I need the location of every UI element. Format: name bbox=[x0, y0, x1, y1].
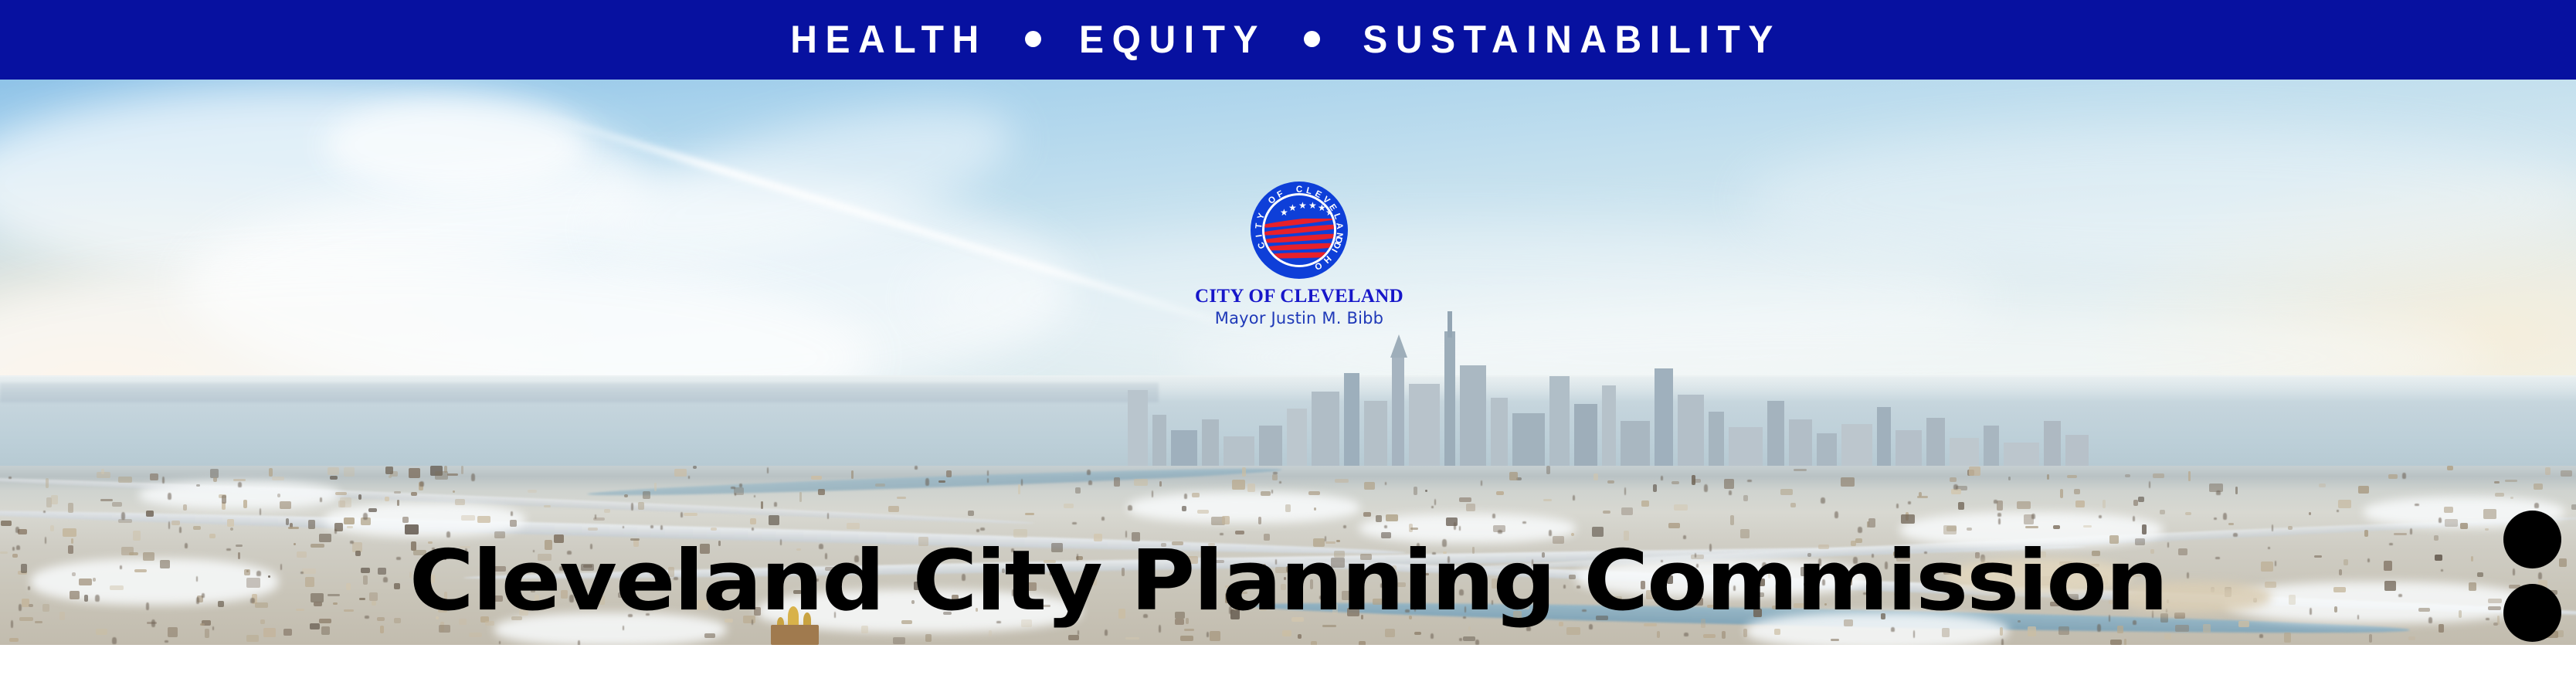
building-parcel bbox=[286, 518, 289, 525]
building-parcel bbox=[624, 494, 628, 497]
building-parcel bbox=[461, 466, 463, 474]
building-parcel bbox=[461, 515, 475, 521]
tree bbox=[2410, 528, 2412, 534]
skyline-building bbox=[1655, 368, 1673, 475]
tree bbox=[15, 527, 19, 533]
building-parcel bbox=[1641, 500, 1649, 507]
building-parcel bbox=[50, 525, 54, 531]
building-parcel bbox=[1919, 492, 1922, 497]
building-parcel bbox=[402, 517, 409, 523]
building-parcel bbox=[1192, 493, 1200, 497]
tree bbox=[767, 467, 769, 473]
tree bbox=[1105, 629, 1108, 636]
building-parcel bbox=[946, 470, 952, 477]
building-parcel bbox=[183, 504, 187, 511]
building-parcel bbox=[1114, 477, 1120, 487]
building-parcel bbox=[280, 501, 291, 509]
building-parcel bbox=[2110, 640, 2122, 645]
tree bbox=[623, 526, 624, 528]
tree bbox=[1747, 480, 1752, 482]
building-parcel bbox=[2188, 471, 2191, 481]
skyline-building bbox=[1128, 390, 1148, 475]
skyline-building bbox=[1491, 398, 1508, 475]
building-parcel bbox=[118, 519, 132, 523]
building-parcel bbox=[200, 623, 205, 626]
tree bbox=[2233, 533, 2238, 537]
building-parcel bbox=[638, 502, 644, 510]
tree bbox=[631, 503, 633, 511]
tree bbox=[363, 513, 368, 520]
building-parcel bbox=[409, 468, 420, 478]
building-parcel bbox=[1743, 495, 1748, 501]
tree bbox=[1087, 470, 1091, 475]
building-parcel bbox=[2203, 624, 2211, 633]
building-parcel bbox=[263, 628, 276, 637]
building-parcel bbox=[1272, 474, 1278, 480]
building-parcel bbox=[411, 492, 417, 496]
tree bbox=[1431, 633, 1434, 639]
building-parcel bbox=[1282, 630, 1291, 636]
snow-field bbox=[1128, 492, 1359, 523]
tree bbox=[1459, 638, 1462, 641]
building-parcel bbox=[643, 491, 650, 499]
seal-star-icon: ★ bbox=[1280, 208, 1288, 217]
building-parcel bbox=[1997, 500, 2003, 511]
building-parcel bbox=[1410, 528, 1418, 530]
tree bbox=[162, 477, 165, 484]
tree bbox=[2439, 517, 2442, 523]
skyline-building bbox=[1549, 376, 1570, 475]
building-parcel bbox=[63, 528, 76, 537]
tree bbox=[1128, 505, 1132, 511]
tree bbox=[752, 528, 754, 531]
tree bbox=[499, 641, 501, 644]
tree bbox=[1821, 497, 1825, 504]
building-parcel bbox=[101, 469, 104, 474]
tree bbox=[1454, 522, 1456, 530]
building-parcel bbox=[925, 634, 932, 642]
tree bbox=[1858, 527, 1862, 533]
building-parcel bbox=[321, 626, 330, 635]
building-parcel bbox=[799, 492, 802, 502]
skyline-building bbox=[1460, 365, 1486, 475]
building-parcel bbox=[283, 629, 292, 636]
tree bbox=[578, 640, 580, 645]
building-parcel bbox=[604, 509, 610, 513]
building-parcel bbox=[1794, 469, 1807, 471]
building-parcel bbox=[150, 473, 158, 480]
building-parcel bbox=[1, 521, 12, 526]
building-parcel bbox=[1308, 491, 1320, 495]
building-parcel bbox=[2025, 526, 2038, 528]
building-parcel bbox=[1363, 512, 1371, 517]
tree bbox=[1078, 630, 1079, 635]
building-parcel bbox=[1335, 479, 1349, 483]
skyline-building bbox=[1409, 384, 1440, 475]
building-parcel bbox=[938, 480, 945, 483]
building-parcel bbox=[1134, 479, 1148, 486]
building-parcel bbox=[2164, 633, 2171, 640]
building-parcel bbox=[1703, 634, 1716, 638]
tree bbox=[260, 508, 261, 515]
building-parcel bbox=[2309, 512, 2311, 515]
tree bbox=[1152, 490, 1153, 497]
tree bbox=[735, 493, 736, 496]
building-parcel bbox=[455, 499, 465, 505]
building-parcel bbox=[1247, 484, 1255, 492]
tree bbox=[731, 487, 735, 489]
building-parcel bbox=[335, 492, 347, 495]
building-parcel bbox=[2175, 625, 2189, 632]
building-parcel bbox=[1414, 632, 1421, 635]
building-parcel bbox=[269, 468, 273, 477]
tree bbox=[1101, 517, 1105, 521]
building-parcel bbox=[1182, 506, 1186, 511]
building-parcel bbox=[380, 626, 384, 633]
tree bbox=[1953, 484, 1958, 490]
building-parcel bbox=[2444, 507, 2453, 513]
building-parcel bbox=[875, 484, 885, 487]
building-parcel bbox=[2364, 530, 2368, 537]
building-parcel bbox=[1311, 641, 1317, 645]
tree bbox=[650, 525, 653, 528]
tree bbox=[1207, 632, 1209, 637]
tree bbox=[419, 481, 424, 487]
tagline-word-health: HEALTH bbox=[790, 20, 986, 59]
building-parcel bbox=[385, 467, 393, 474]
building-parcel bbox=[1285, 504, 1291, 512]
building-parcel bbox=[344, 517, 355, 524]
building-parcel bbox=[2125, 474, 2130, 477]
building-parcel bbox=[394, 491, 401, 494]
tree bbox=[179, 527, 182, 533]
building-parcel bbox=[168, 627, 178, 637]
building-parcel bbox=[769, 515, 779, 525]
building-parcel bbox=[100, 499, 113, 501]
tree bbox=[2337, 510, 2339, 512]
building-parcel bbox=[453, 490, 455, 493]
tagline-word-equity: EQUITY bbox=[1079, 20, 1266, 59]
building-parcel bbox=[1774, 629, 1780, 635]
building-parcel bbox=[2228, 523, 2234, 525]
building-parcel bbox=[1967, 528, 1972, 531]
building-parcel bbox=[2571, 504, 2576, 510]
tree bbox=[43, 511, 46, 513]
tree bbox=[168, 521, 170, 529]
building-parcel bbox=[1607, 480, 1614, 484]
tree bbox=[168, 493, 171, 500]
building-parcel bbox=[1376, 515, 1382, 522]
building-parcel bbox=[272, 477, 284, 480]
building-parcel bbox=[1197, 510, 1209, 514]
building-parcel bbox=[112, 502, 122, 507]
building-parcel bbox=[1364, 482, 1375, 490]
building-parcel bbox=[2369, 634, 2372, 643]
building-parcel bbox=[528, 490, 537, 493]
building-parcel bbox=[1425, 490, 1427, 492]
youtube-icon bbox=[2515, 522, 2551, 558]
building-parcel bbox=[2495, 493, 2504, 497]
building-parcel bbox=[968, 511, 974, 516]
building-parcel bbox=[171, 521, 180, 525]
building-parcel bbox=[1180, 636, 1193, 641]
tagline-banner: HEALTH EQUITY SUSTAINABILITY bbox=[0, 0, 2576, 80]
building-parcel bbox=[1314, 507, 1316, 511]
building-parcel bbox=[510, 520, 517, 527]
skyline-building bbox=[1602, 385, 1616, 475]
building-parcel bbox=[46, 478, 49, 488]
building-parcel bbox=[2047, 474, 2049, 480]
skyline-building bbox=[1767, 401, 1784, 475]
tree bbox=[2272, 524, 2273, 531]
building-parcel bbox=[2561, 470, 2572, 477]
building-parcel bbox=[2534, 484, 2543, 490]
tree bbox=[1684, 633, 1688, 636]
city-seal-icon: CITY OF CLEVELANDOHIO ★★★★★★ bbox=[1251, 182, 1348, 279]
tree bbox=[1273, 472, 1278, 474]
tree bbox=[112, 637, 117, 644]
building-parcel bbox=[2288, 526, 2293, 530]
tree bbox=[976, 529, 979, 532]
building-parcel bbox=[9, 638, 19, 642]
hero-photo-banner: CITY OF CLEVELANDOHIO ★★★★★★ CITY OF CLE… bbox=[0, 80, 2576, 645]
building-parcel bbox=[2483, 509, 2496, 519]
building-parcel bbox=[1359, 641, 1366, 645]
building-parcel bbox=[1075, 487, 1081, 494]
building-parcel bbox=[588, 528, 598, 531]
building-parcel bbox=[1414, 487, 1417, 495]
building-parcel bbox=[344, 467, 355, 477]
building-parcel bbox=[1466, 504, 1475, 511]
building-parcel bbox=[209, 534, 216, 538]
building-parcel bbox=[1780, 489, 1793, 495]
building-parcel bbox=[1546, 466, 1550, 474]
building-parcel bbox=[1724, 479, 1734, 489]
building-parcel bbox=[2017, 501, 2031, 509]
building-parcel bbox=[1463, 636, 1475, 641]
building-parcel bbox=[444, 466, 447, 473]
tree bbox=[1492, 514, 1495, 518]
building-parcel bbox=[818, 489, 825, 495]
tree bbox=[1481, 480, 1482, 486]
building-parcel bbox=[893, 637, 905, 644]
building-parcel bbox=[368, 508, 377, 512]
building-parcel bbox=[2545, 467, 2551, 475]
instagram-icon bbox=[2515, 595, 2551, 631]
building-parcel bbox=[674, 469, 687, 477]
tree bbox=[2001, 639, 2004, 645]
tree bbox=[987, 478, 989, 483]
building-parcel bbox=[68, 503, 73, 513]
tagline-word-sustainability: SUSTAINABILITY bbox=[1363, 20, 1781, 59]
building-parcel bbox=[2185, 512, 2191, 515]
tree bbox=[1385, 482, 1386, 485]
building-parcel bbox=[338, 500, 345, 507]
tree bbox=[774, 502, 777, 507]
building-parcel bbox=[897, 497, 906, 499]
building-parcel bbox=[2319, 484, 2326, 487]
building-parcel bbox=[711, 528, 717, 531]
tree bbox=[987, 470, 989, 476]
building-parcel bbox=[2439, 624, 2444, 633]
tree bbox=[320, 497, 322, 502]
seal-star-icon: ★ bbox=[1288, 203, 1297, 212]
tree bbox=[595, 514, 596, 519]
building-parcel bbox=[222, 495, 226, 504]
tree bbox=[2133, 516, 2135, 521]
skyline-building bbox=[1444, 331, 1455, 475]
tree bbox=[1913, 630, 1915, 638]
skyline-building bbox=[1574, 404, 1597, 475]
building-parcel bbox=[1692, 475, 1695, 485]
building-parcel bbox=[389, 475, 392, 478]
building-parcel bbox=[1385, 629, 1395, 637]
building-parcel bbox=[347, 526, 353, 528]
tree bbox=[827, 513, 829, 519]
building-parcel bbox=[2494, 481, 2500, 484]
tree bbox=[1475, 640, 1479, 645]
social-link-youtube[interactable] bbox=[2503, 511, 2561, 568]
building-parcel bbox=[233, 479, 246, 481]
skyline-building bbox=[1392, 353, 1404, 475]
building-parcel bbox=[1298, 634, 1302, 639]
building-parcel bbox=[1232, 480, 1245, 490]
skyline-building bbox=[1364, 401, 1387, 475]
building-parcel bbox=[1593, 473, 1598, 480]
building-parcel bbox=[1951, 489, 1961, 494]
building-parcel bbox=[851, 470, 854, 479]
building-parcel bbox=[1958, 502, 1964, 510]
building-parcel bbox=[2124, 639, 2126, 645]
building-parcel bbox=[1159, 481, 1162, 487]
tree bbox=[1522, 521, 1526, 524]
tree bbox=[1184, 494, 1187, 499]
building-parcel bbox=[2074, 489, 2080, 494]
tree bbox=[1896, 504, 1899, 508]
building-parcel bbox=[1868, 518, 1875, 528]
tree bbox=[1088, 480, 1092, 485]
tree bbox=[1271, 490, 1273, 494]
bullet-dot-icon bbox=[1025, 31, 1041, 47]
seal-star-icon: ★ bbox=[1298, 201, 1307, 210]
building-parcel bbox=[330, 476, 338, 480]
building-parcel bbox=[1603, 511, 1610, 514]
building-parcel bbox=[1543, 499, 1552, 501]
building-parcel bbox=[888, 506, 899, 512]
building-parcel bbox=[989, 630, 992, 636]
building-parcel bbox=[328, 467, 339, 475]
tree bbox=[212, 626, 214, 630]
building-parcel bbox=[1674, 504, 1688, 511]
building-parcel bbox=[51, 495, 58, 504]
building-parcel bbox=[2394, 533, 2407, 535]
building-parcel bbox=[1969, 467, 1980, 476]
building-parcel bbox=[1672, 481, 1679, 484]
building-parcel bbox=[205, 629, 209, 638]
tree bbox=[1279, 481, 1281, 484]
building-parcel bbox=[1261, 491, 1271, 496]
tree bbox=[660, 525, 663, 530]
city-logo-title: CITY OF CLEVELAND bbox=[1195, 287, 1403, 307]
building-parcel bbox=[2338, 500, 2351, 508]
tree bbox=[334, 529, 337, 534]
building-parcel bbox=[847, 523, 860, 529]
tree bbox=[1908, 501, 1911, 504]
building-parcel bbox=[1722, 631, 1726, 639]
building-parcel bbox=[1068, 635, 1079, 640]
building-parcel bbox=[230, 528, 233, 531]
building-parcel bbox=[1459, 497, 1471, 502]
building-parcel bbox=[308, 520, 315, 529]
building-parcel bbox=[1730, 515, 1734, 525]
building-parcel bbox=[469, 633, 482, 637]
flag-stripe bbox=[1264, 252, 1336, 260]
skyline-building bbox=[1877, 407, 1891, 475]
building-parcel bbox=[654, 483, 657, 491]
building-parcel bbox=[1653, 484, 1657, 492]
tree bbox=[8, 477, 12, 479]
building-parcel bbox=[1668, 523, 1680, 528]
tree bbox=[925, 478, 929, 486]
building-parcel bbox=[397, 500, 399, 506]
footer-whitespace bbox=[0, 645, 2576, 682]
building-parcel bbox=[477, 516, 490, 523]
social-link-instagram[interactable] bbox=[2503, 584, 2561, 642]
building-parcel bbox=[2160, 510, 2165, 514]
building-parcel bbox=[1496, 491, 1504, 495]
tree bbox=[1384, 525, 1387, 528]
building-parcel bbox=[1258, 517, 1261, 524]
building-parcel bbox=[1841, 477, 1855, 487]
building-parcel bbox=[1901, 514, 1915, 524]
tree bbox=[2216, 490, 2221, 495]
building-parcel bbox=[196, 484, 200, 487]
seal-star-icon: ★ bbox=[1308, 201, 1317, 210]
tree bbox=[688, 476, 690, 479]
building-parcel bbox=[1509, 472, 1518, 480]
building-parcel bbox=[2053, 525, 2060, 529]
tree bbox=[739, 484, 742, 487]
building-parcel bbox=[761, 501, 763, 509]
building-parcel bbox=[1386, 514, 1398, 521]
building-parcel bbox=[2083, 525, 2092, 528]
social-links bbox=[2503, 511, 2562, 645]
tree bbox=[1704, 484, 1708, 492]
tree bbox=[165, 640, 168, 643]
tree bbox=[915, 466, 918, 470]
building-parcel bbox=[277, 494, 280, 497]
building-parcel bbox=[2510, 497, 2513, 499]
building-parcel bbox=[2284, 633, 2291, 643]
tree bbox=[471, 473, 475, 481]
building-parcel bbox=[243, 500, 247, 508]
tree bbox=[1021, 479, 1023, 486]
flag-stripe bbox=[1264, 242, 1336, 251]
building-parcel bbox=[2067, 475, 2077, 478]
building-parcel bbox=[2408, 636, 2415, 640]
building-parcel bbox=[2153, 473, 2164, 478]
building-parcel bbox=[2358, 486, 2369, 494]
building-parcel bbox=[1657, 631, 1660, 638]
building-parcel bbox=[96, 629, 107, 635]
building-parcel bbox=[811, 476, 822, 480]
tree bbox=[980, 528, 985, 531]
building-parcel bbox=[310, 623, 320, 629]
tree bbox=[2214, 517, 2217, 520]
building-parcel bbox=[118, 477, 132, 483]
building-parcel bbox=[193, 526, 201, 530]
building-parcel bbox=[2447, 466, 2453, 470]
